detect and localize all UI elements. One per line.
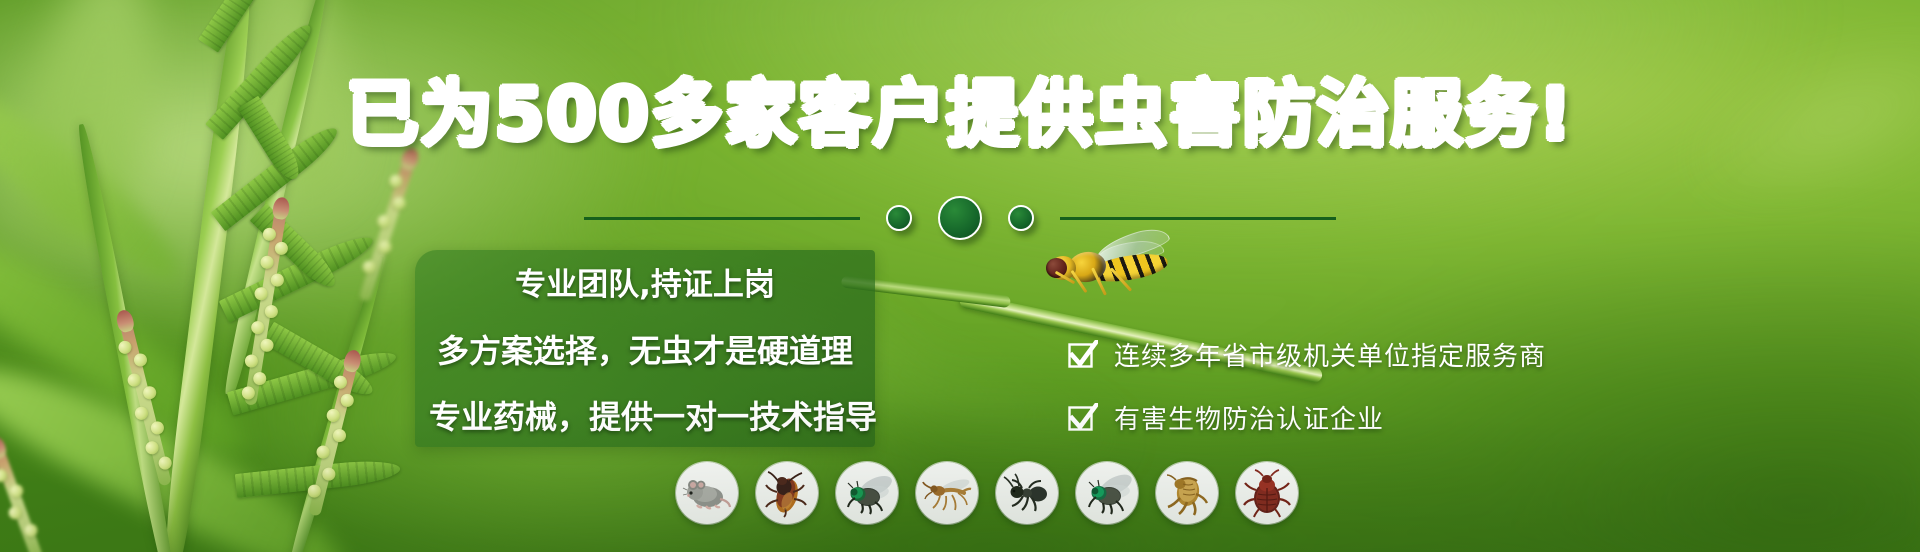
pest-icon-strip <box>676 462 1298 524</box>
cockroach-icon <box>762 468 812 518</box>
pest-circle[interactable] <box>916 462 978 524</box>
pest-circle[interactable] <box>676 462 738 524</box>
pest-circle[interactable] <box>1236 462 1298 524</box>
pest-circle[interactable] <box>1156 462 1218 524</box>
pest-circle[interactable] <box>756 462 818 524</box>
banner-headline-text: 已为500多家客户提供虫害防治服务! <box>346 72 1573 156</box>
banner-headline: 已为500多家客户提供虫害防治服务! <box>0 78 1920 150</box>
pest-circle[interactable] <box>1076 462 1138 524</box>
fly-icon <box>842 468 892 518</box>
pest-circle[interactable] <box>836 462 898 524</box>
feature-label: 有害生物防治认证企业 <box>1114 399 1384 436</box>
divider-dot-small-right <box>1008 205 1034 231</box>
divider-dot-small-left <box>886 205 912 231</box>
hoverfly-icon <box>1040 236 1170 306</box>
flea-icon <box>1162 468 1212 518</box>
plant-catkin <box>111 317 179 489</box>
divider-rule-right <box>1060 217 1336 220</box>
slogan-panel: 专业团队,持证上岗 多方案选择，无虫才是硬道理 专业药械，提供一对一技术指导 <box>415 250 875 447</box>
feature-item: 有害生物防治认证企业 <box>1068 399 1546 436</box>
mosquito-icon <box>922 468 972 518</box>
slogan-line-1: 专业团队,持证上岗 <box>429 259 861 304</box>
feature-item: 连续多年省市级机关单位指定服务商 <box>1068 336 1546 373</box>
pest-circle[interactable] <box>996 462 1058 524</box>
slogan-line-3: 专业药械，提供一对一技术指导 <box>429 392 861 438</box>
decorative-divider <box>0 196 1920 240</box>
feature-label: 连续多年省市级机关单位指定服务商 <box>1114 336 1546 373</box>
mouse-icon <box>682 468 732 518</box>
divider-dot-large <box>938 196 982 240</box>
divider-rule-left <box>584 217 860 220</box>
housefly-icon <box>1082 468 1132 518</box>
pest-control-banner: 已为500多家客户提供虫害防治服务! 专业团队,持证上岗 多方案选择，无虫才是硬… <box>0 0 1920 552</box>
checkbox-check-icon <box>1068 340 1098 370</box>
feature-list: 连续多年省市级机关单位指定服务商 有害生物防治认证企业 <box>1068 336 1546 436</box>
bedbug-icon <box>1242 468 1292 518</box>
checkbox-check-icon <box>1068 403 1098 433</box>
plant-catkin <box>0 443 47 552</box>
slogan-line-2: 多方案选择，无虫才是硬道理 <box>429 326 861 372</box>
ant-icon <box>1002 468 1052 518</box>
